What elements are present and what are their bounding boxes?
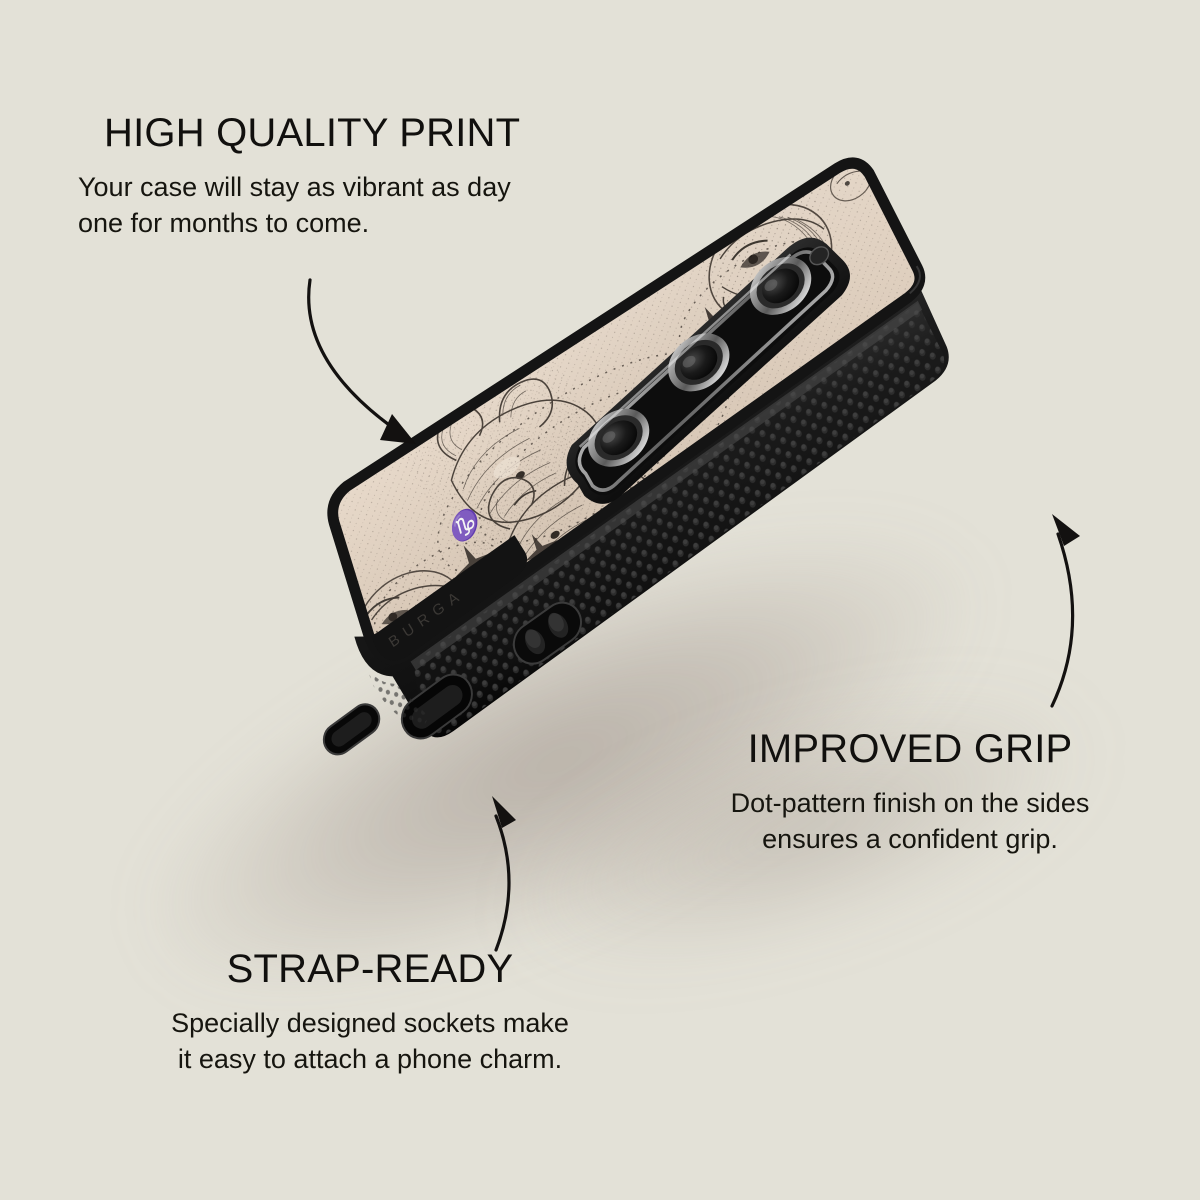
callout-title-high-quality-print: HIGH QUALITY PRINT (0, 112, 660, 154)
callout-body-strap-ready: Specially designed sockets make it easy … (90, 1006, 650, 1078)
callout-arrow-high-quality-print (292, 268, 462, 468)
callout-title-strap-ready: STRAP-READY (90, 948, 650, 990)
callout-body-line-2: one for months to come. (78, 206, 660, 242)
callout-arrow-improved-grip (1008, 498, 1138, 718)
callout-strap-ready: STRAP-READY Specially designed sockets m… (90, 948, 650, 1078)
callout-body-line-1: Specially designed sockets make (90, 1006, 650, 1042)
callout-body-line-1: Your case will stay as vibrant as day (78, 170, 660, 206)
callout-body-improved-grip: Dot-pattern finish on the sides ensures … (640, 786, 1180, 858)
callout-improved-grip: IMPROVED GRIP Dot-pattern finish on the … (640, 728, 1180, 858)
callout-body-high-quality-print: Your case will stay as vibrant as day on… (0, 170, 660, 242)
infographic-canvas: ♑ ♑ (0, 0, 1200, 1200)
callout-title-improved-grip: IMPROVED GRIP (640, 728, 1180, 770)
callout-body-line-1: Dot-pattern finish on the sides (640, 786, 1180, 822)
callout-arrow-strap-ready (452, 790, 562, 960)
callout-high-quality-print: HIGH QUALITY PRINT Your case will stay a… (0, 112, 660, 242)
callout-body-line-2: ensures a confident grip. (640, 822, 1180, 858)
callout-body-line-2: it easy to attach a phone charm. (90, 1042, 650, 1078)
speaker-cutout (318, 698, 385, 760)
